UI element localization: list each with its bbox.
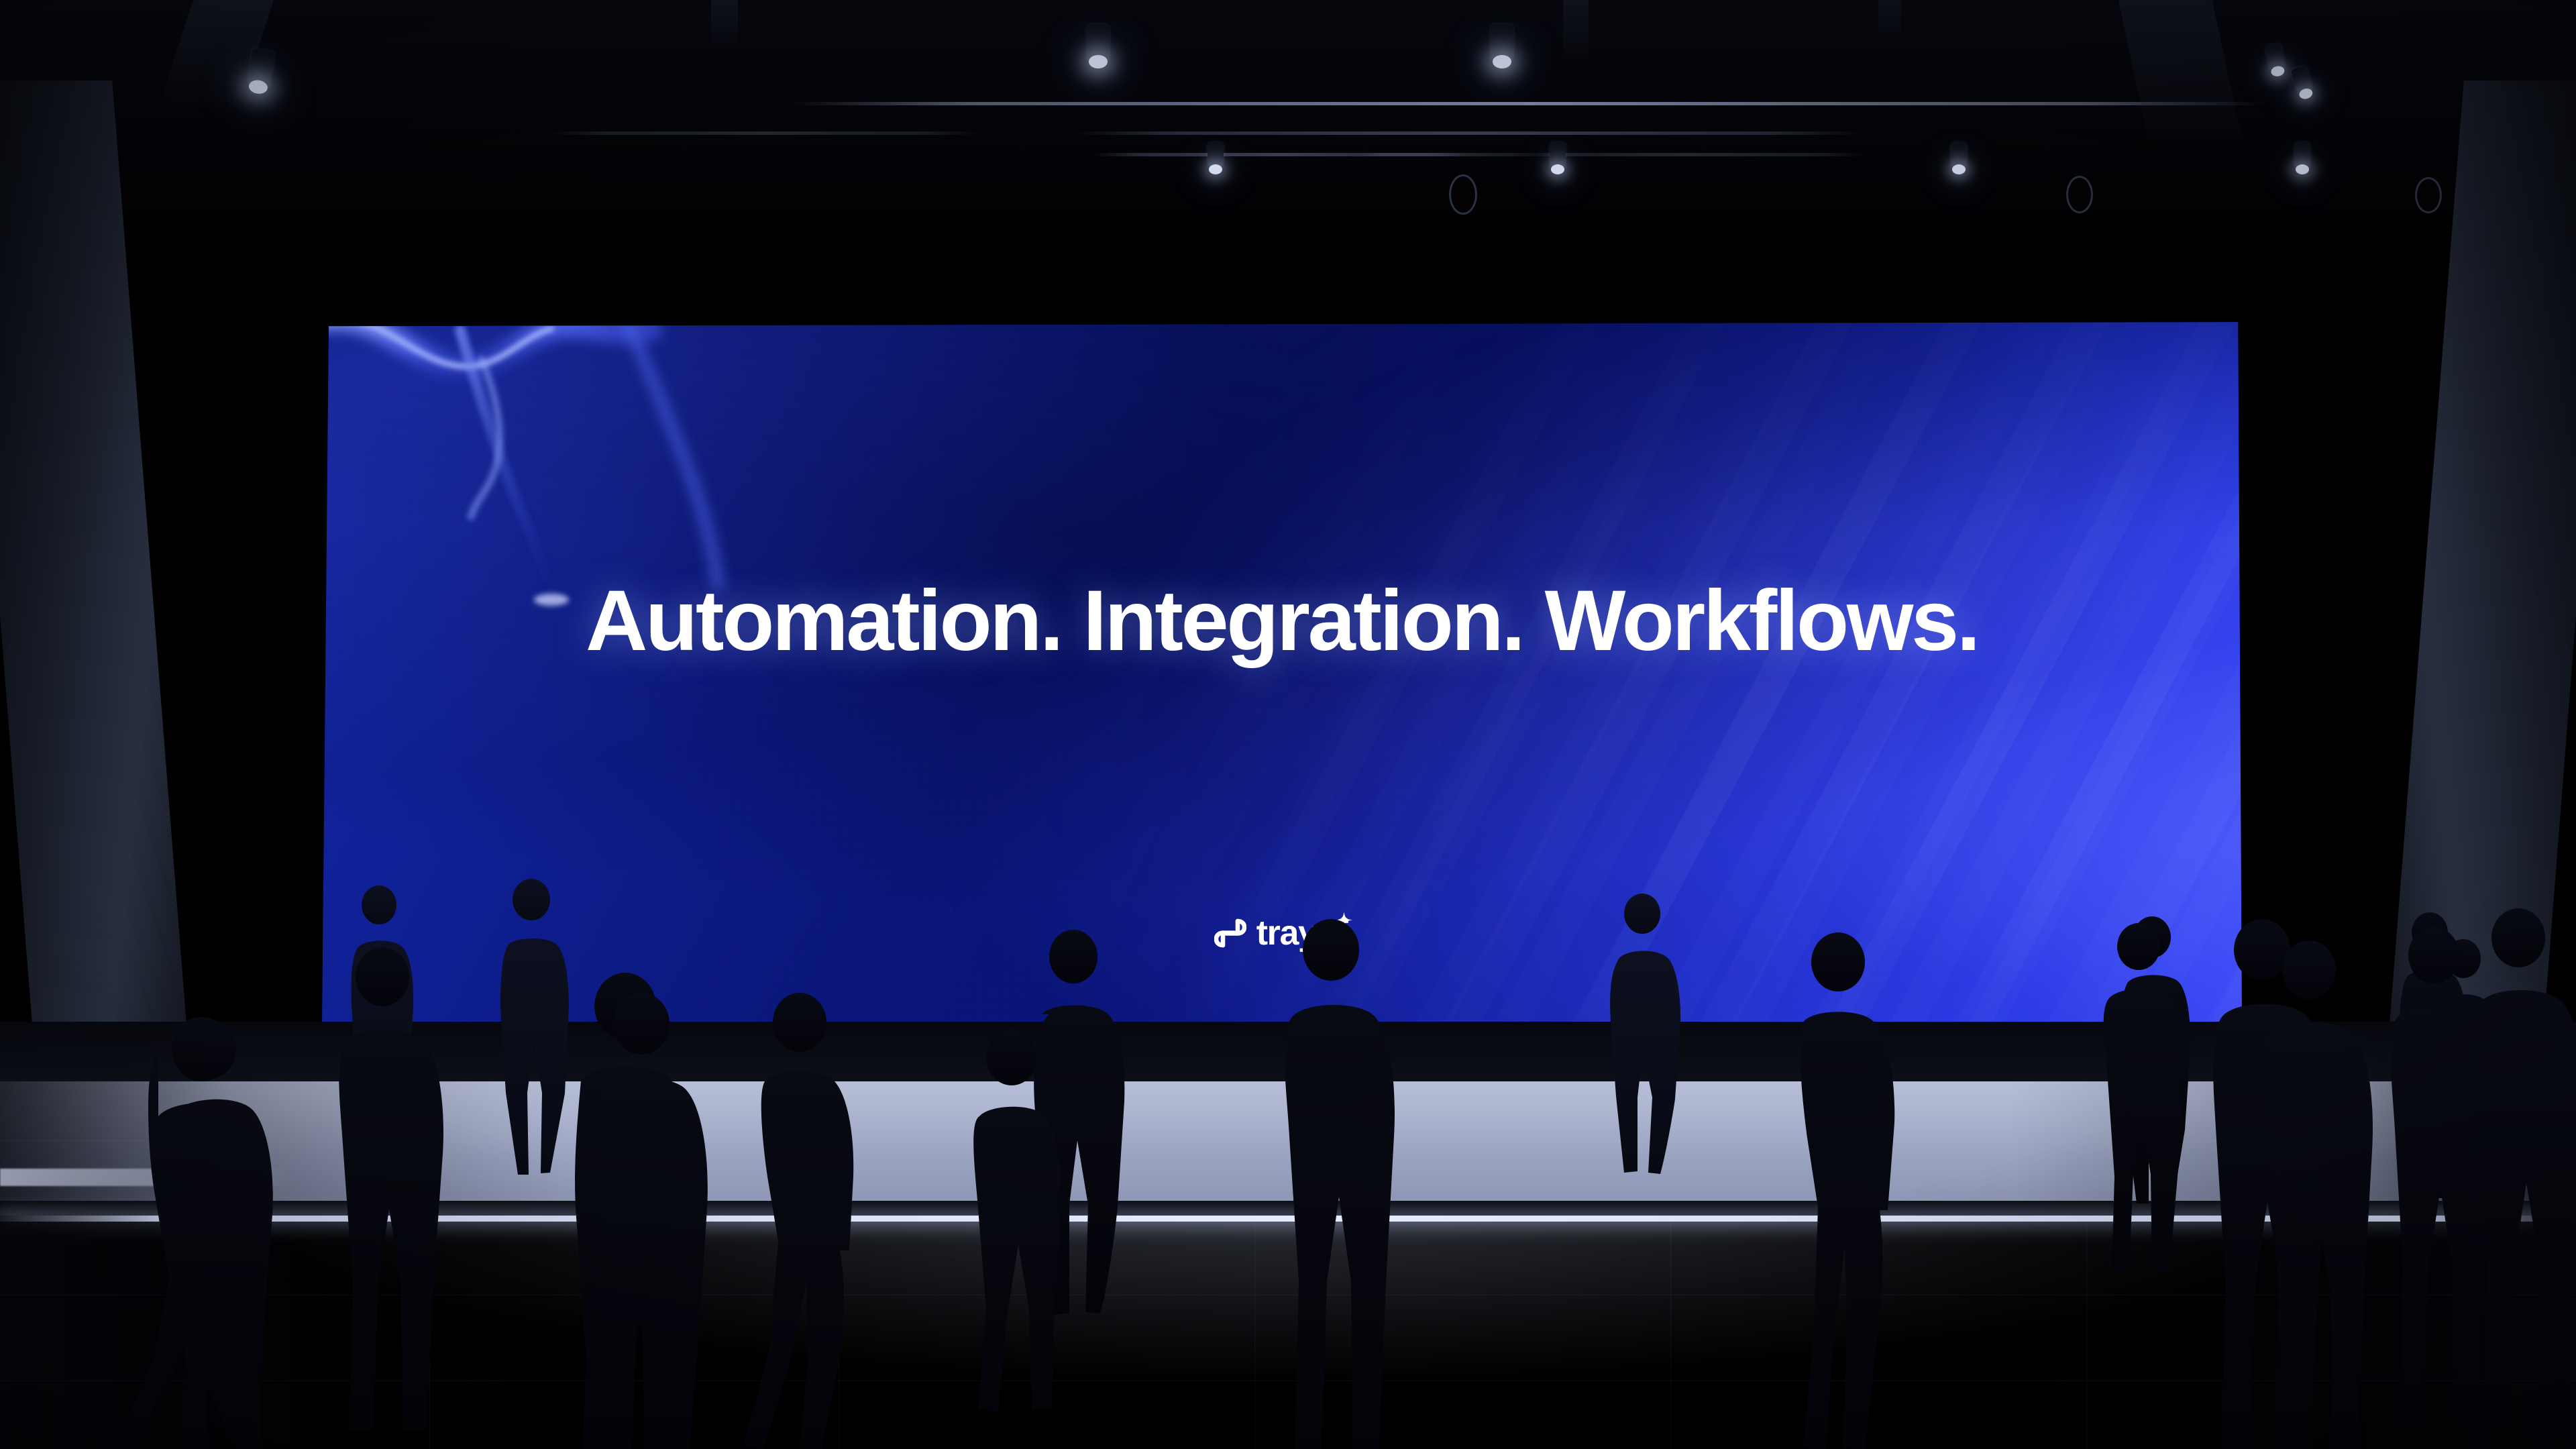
floor-tile-line xyxy=(839,1222,839,1449)
wall-panel-left xyxy=(0,80,195,1127)
brand-wordmark: tray.ai xyxy=(1256,916,1350,951)
ceiling-rig xyxy=(711,0,738,47)
led-screen: Automation. Integration. Workflows. tray… xyxy=(322,322,2242,1025)
tray-loop-mark-icon xyxy=(1214,918,1246,948)
floor-tile-line xyxy=(1254,1222,1255,1449)
wall-panel-right xyxy=(2381,80,2576,1127)
floor-tile-line xyxy=(1670,1222,1671,1449)
light-ring xyxy=(1449,174,1477,215)
ceiling-spotlight xyxy=(2291,66,2314,97)
screen-headline: Automation. Integration. Workflows. xyxy=(322,578,2242,664)
stage-riser-upper xyxy=(0,1022,2576,1083)
truss-bar xyxy=(1073,131,1865,135)
ai-sparkle-icon xyxy=(1336,900,1352,916)
ceiling-spotlight xyxy=(2265,43,2286,74)
ceiling-spotlight xyxy=(1550,142,1566,170)
brand-logo: tray.ai xyxy=(322,916,2242,951)
stage-floor-highlight xyxy=(0,1169,288,1186)
light-ring xyxy=(2415,177,2442,213)
foreground-floor-sheen xyxy=(0,1222,2576,1449)
ceiling-rig xyxy=(1563,0,1589,60)
ceiling-rig xyxy=(2118,0,2243,141)
floor-tile-line xyxy=(2086,1222,2087,1449)
floor-tile-line xyxy=(0,1381,2576,1381)
ceiling-spotlight xyxy=(1951,142,1967,170)
truss-bar xyxy=(1516,153,1865,156)
truss-bar xyxy=(792,102,2267,105)
ceiling-spotlight xyxy=(1491,24,1513,64)
ceiling-rig xyxy=(1878,0,1901,40)
ceiling xyxy=(0,0,2576,221)
floor-tile-line xyxy=(429,1222,430,1449)
stage-scene: Automation. Integration. Workflows. tray… xyxy=(0,0,2576,1449)
truss-bar xyxy=(550,131,979,135)
ceiling-spotlight xyxy=(1087,24,1110,64)
truss-bar xyxy=(1362,153,1536,156)
light-ring xyxy=(2066,176,2093,213)
floor-tile-line xyxy=(0,1295,2576,1295)
stage-floor xyxy=(0,1081,2576,1203)
floor-seam xyxy=(0,1140,2576,1141)
ceiling-spotlight xyxy=(2294,142,2310,170)
ceiling-spotlight xyxy=(1207,142,1224,170)
stage-edge-led-strip xyxy=(0,1216,2576,1222)
